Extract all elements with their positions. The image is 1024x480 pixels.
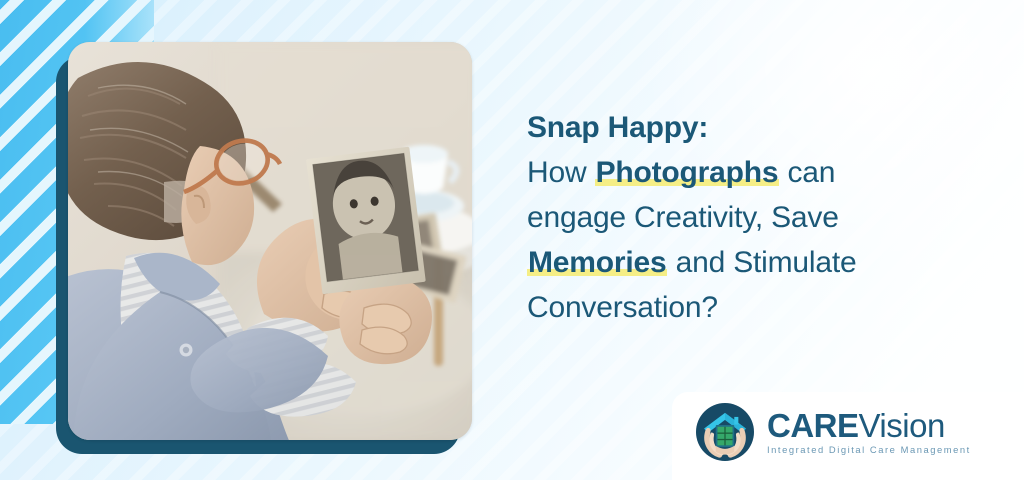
logo-tagline: Integrated Digital Care Management (767, 444, 971, 456)
headline: Snap Happy: How Photographs can engage C… (527, 105, 967, 330)
headline-line-2: How Photographs can (527, 150, 967, 195)
headline-line-2-post: can (779, 156, 835, 189)
headline-line-4: Memories and Stimulate (527, 240, 967, 285)
headline-line-3: engage Creativity, Save (527, 195, 967, 240)
logo-wordmark: CAREVision (767, 409, 971, 443)
headline-line-4-post: and Stimulate (667, 246, 856, 279)
logo-card: CAREVision Integrated Digital Care Manag… (672, 392, 1024, 480)
logo-wordmark-care: CARE (767, 407, 859, 444)
feature-photo-illustration (68, 42, 472, 440)
logo-text-block: CAREVision Integrated Digital Care Manag… (767, 409, 971, 456)
promo-banner: Snap Happy: How Photographs can engage C… (0, 0, 1024, 480)
headline-highlight-photographs: Photographs (595, 156, 780, 189)
headline-line-1: Snap Happy: (527, 105, 967, 150)
house-in-cupped-hands-icon (696, 403, 754, 461)
headline-line-5: Conversation? (527, 285, 967, 330)
headline-highlight-memories: Memories (527, 246, 667, 279)
headline-kicker: Snap Happy: (527, 111, 708, 144)
logo-lockup[interactable]: CAREVision Integrated Digital Care Manag… (696, 403, 971, 461)
headline-line-2-pre: How (527, 156, 595, 189)
logo-wordmark-vision: Vision (859, 407, 945, 444)
photo-card (68, 42, 472, 440)
feature-photo (68, 42, 472, 440)
